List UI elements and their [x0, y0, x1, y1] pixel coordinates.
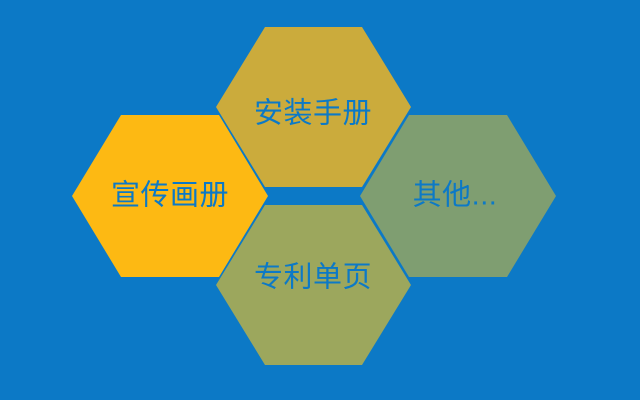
hexagon-label-xuanchuan-huace: 宣传画册 [111, 182, 229, 211]
hexagon-label-zhuanli-danye: 专利单页 [254, 264, 372, 293]
hexagon-shapes-layer [0, 0, 640, 400]
hexagon-diagram-canvas: 宣传画册 安装手册 专利单页 其他... [0, 0, 640, 400]
hexagon-label-anzhuang-shouce: 安装手册 [254, 100, 372, 129]
hexagon-label-qita: 其他... [413, 182, 498, 211]
